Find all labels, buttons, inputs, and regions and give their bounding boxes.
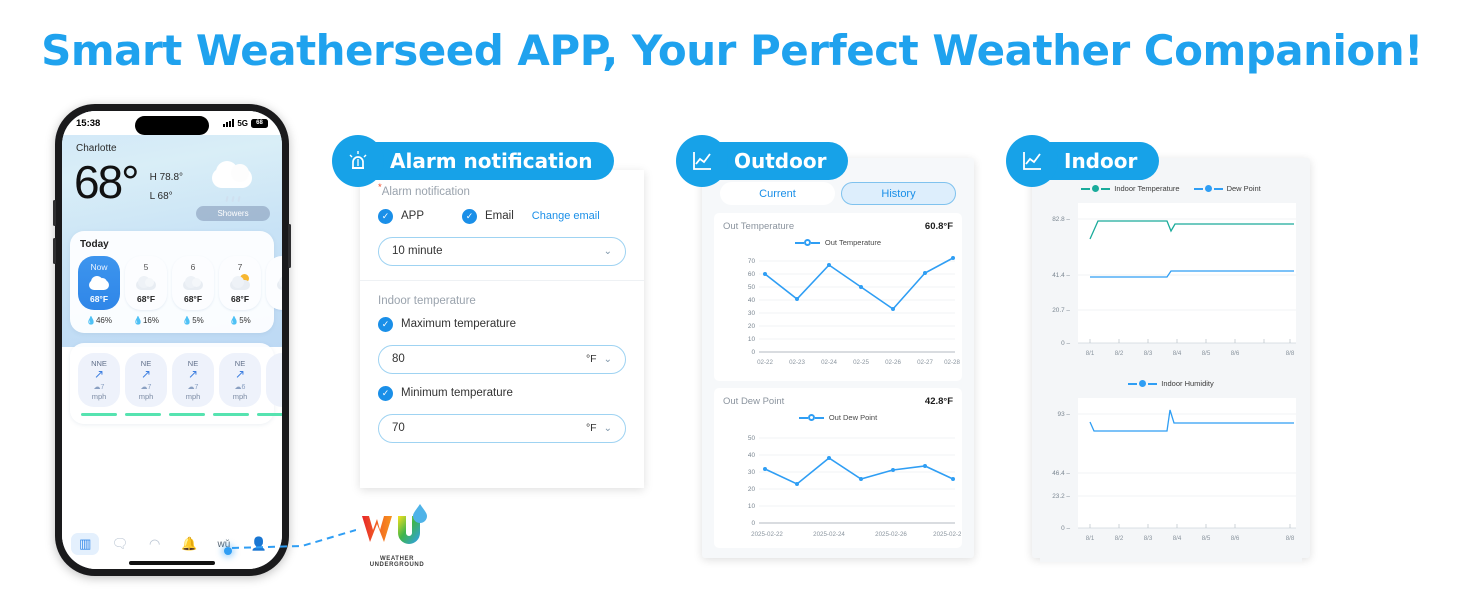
hour-temp: 68°F: [172, 294, 214, 304]
line-chart-icon: [676, 135, 728, 187]
hour-temp: 68°F: [78, 294, 120, 304]
hour-label: 7: [219, 262, 261, 272]
indoor-panel: Indoor Temperature Dew Point 82.8 – 41.4…: [1032, 158, 1310, 558]
wind-arrow-icon: ↗: [172, 368, 214, 381]
svg-text:02-25: 02-25: [853, 359, 869, 366]
interval-select[interactable]: 10 minute ⌄: [378, 237, 626, 266]
min-temp-value: 70: [392, 422, 405, 434]
svg-text:10: 10: [748, 336, 756, 343]
svg-text:2025-02-24: 2025-02-24: [813, 531, 845, 538]
out-dewpoint-title: Out Dew Point: [723, 396, 784, 407]
svg-text:02-26: 02-26: [885, 359, 901, 366]
hour-label: 5: [125, 262, 167, 272]
out-temp-title: Out Temperature: [723, 221, 794, 232]
hour-label: 6: [172, 262, 214, 272]
battery-icon: 68: [251, 119, 268, 128]
chevron-down-icon: ⌄: [604, 246, 612, 257]
out-temperature-chart: 70 60 50 40 30 20 10 0 02-22 02-23 02-24…: [723, 249, 961, 377]
chevron-down-icon[interactable]: ⌄: [604, 354, 612, 365]
tab-history[interactable]: History: [841, 182, 956, 205]
svg-text:8/6: 8/6: [1231, 535, 1240, 542]
weather-underground-logo: WEATHER UNDERGROUND: [352, 502, 442, 568]
hour-item[interactable]: 5 68°F: [125, 256, 167, 310]
cloud-icon: [134, 276, 158, 291]
min-temp-checkbox[interactable]: ✓: [378, 386, 393, 401]
outdoor-badge: Outdoor: [684, 142, 848, 180]
wind-item[interactable]: NE ↗ ☁6 mph: [219, 353, 261, 407]
sidebar-item-bell[interactable]: 🔔: [175, 536, 203, 552]
svg-text:02-23: 02-23: [789, 359, 805, 366]
signal-icon: [223, 119, 234, 127]
precip-row: 💧46% 💧16% 💧5% 💧5% 💧: [70, 310, 274, 325]
alarm-notification-panel: *Alarm notification ✓ APP ✓ Email Change…: [360, 170, 644, 488]
sidebar-item-message[interactable]: 🗨: [106, 536, 134, 552]
dynamic-island: [135, 116, 209, 135]
alarm-siren-icon: [332, 135, 384, 187]
max-temp-label: Maximum temperature: [401, 318, 516, 330]
wind-item[interactable]: NNE ↗ ☁7 mph: [78, 353, 120, 407]
max-temp-unit: °F: [586, 353, 597, 365]
alarm-badge-title: Alarm notification: [390, 149, 592, 173]
out-dewpoint-legend: Out Dew Point: [723, 413, 953, 422]
hour-label: [266, 262, 282, 272]
svg-text:0: 0: [751, 349, 755, 356]
sidebar-item-chart[interactable]: ▥: [71, 533, 99, 555]
svg-text:60: 60: [748, 271, 756, 278]
svg-text:20.7 –: 20.7 –: [1052, 307, 1070, 314]
svg-text:50: 50: [748, 284, 756, 291]
svg-text:8/1: 8/1: [1086, 535, 1095, 542]
svg-text:46.4 –: 46.4 –: [1052, 470, 1070, 477]
wu-wordmark: WEATHER UNDERGROUND: [352, 556, 442, 568]
current-conditions: 68° H 78.8° L 68° Showers: [62, 154, 282, 221]
rain-drops-icon: [196, 196, 270, 202]
svg-text:0: 0: [751, 520, 755, 527]
indoor-badge: Indoor: [1014, 142, 1159, 180]
max-temp-checkbox[interactable]: ✓: [378, 317, 393, 332]
app-label: APP: [401, 210, 424, 222]
sun-cloud-icon: [228, 276, 252, 291]
low-temp: L 68°: [150, 187, 183, 206]
indoor-temperature-card: Indoor Temperature Dew Point 82.8 – 41.4…: [1040, 184, 1302, 375]
chevron-down-icon[interactable]: ⌄: [604, 423, 612, 434]
svg-text:50: 50: [748, 435, 756, 442]
svg-text:70: 70: [748, 258, 756, 265]
wind-unit: mph: [172, 392, 214, 401]
svg-text:8/8: 8/8: [1286, 535, 1295, 542]
svg-text:8/2: 8/2: [1115, 535, 1124, 542]
rain-cloud-icon: [87, 276, 111, 291]
hour-item[interactable]: 6 68°F: [172, 256, 214, 310]
email-checkbox[interactable]: ✓: [462, 209, 477, 224]
hour-label: Now: [78, 262, 120, 272]
svg-text:10: 10: [748, 503, 756, 510]
wind-arrow-icon: ↗: [219, 368, 261, 381]
precip-item: 💧: [266, 316, 282, 325]
precip-item: 💧5%: [219, 316, 261, 325]
today-card: Today Now 68°F 5 68°F 6 68°F: [70, 231, 274, 333]
home-indicator: [129, 561, 215, 565]
svg-text:41.4 –: 41.4 –: [1052, 272, 1070, 279]
svg-text:8/4: 8/4: [1173, 350, 1182, 357]
svg-text:40: 40: [748, 452, 756, 459]
svg-text:2025-02-22: 2025-02-22: [751, 531, 783, 538]
indoor-humidity-chart: 93 – 46.4 – 23.2 – 0 – 8/1 8/2 8/3 8/4 8…: [1040, 392, 1302, 562]
today-label: Today: [70, 239, 274, 256]
hour-item[interactable]: 7 68°F: [219, 256, 261, 310]
wind-speed: ☁6: [219, 381, 261, 392]
svg-text:02-22: 02-22: [757, 359, 773, 366]
wind-row[interactable]: NNE ↗ ☁7 mph NE ↗ ☁7 mph NE ↗ ☁7 mph: [70, 353, 274, 407]
svg-text:82.8 –: 82.8 –: [1052, 216, 1070, 223]
email-label: Email: [485, 210, 514, 222]
precip-item: 💧46%: [78, 316, 120, 325]
precip-item: 💧16%: [125, 316, 167, 325]
cloud-icon: [181, 276, 205, 291]
out-temp-legend: Out Temperature: [723, 238, 953, 247]
wind-arrow-icon: ↗: [78, 368, 120, 381]
svg-text:20: 20: [748, 486, 756, 493]
max-temp-value: 80: [392, 353, 405, 365]
svg-text:93 –: 93 –: [1058, 411, 1071, 418]
min-temp-input[interactable]: 70 °F ⌄: [378, 414, 626, 443]
wind-unit: [266, 392, 282, 401]
phone-mockup: 15:38 5G 68 Charlotte 68° H 78.8° L 68° …: [55, 104, 289, 576]
svg-text:8/5: 8/5: [1202, 535, 1211, 542]
wind-item[interactable]: NE ↗ ☁7 mph: [125, 353, 167, 407]
svg-text:30: 30: [748, 469, 756, 476]
wind-item[interactable]: [266, 353, 282, 407]
min-temp-unit: °F: [586, 422, 597, 434]
svg-text:8/3: 8/3: [1144, 350, 1153, 357]
current-temperature: 68°: [74, 158, 138, 206]
wind-arrow-icon: [266, 368, 282, 381]
line-chart-icon: [1006, 135, 1058, 187]
wind-speed: [266, 381, 282, 392]
city-name: Charlotte: [62, 135, 282, 154]
indoor-humidity-card: Indoor Humidity 93 – 46.4 – 23.2 – 0 – 8…: [1040, 379, 1302, 562]
network-label: 5G: [237, 119, 248, 128]
tab-current[interactable]: Current: [720, 182, 835, 205]
alarm-badge: Alarm notification: [340, 142, 614, 180]
rain-cloud-icon: [206, 160, 260, 194]
indoor-temperature-section: Indoor temperature ✓ Maximum temperature…: [360, 281, 644, 443]
wind-unit: mph: [78, 392, 120, 401]
svg-text:8/1: 8/1: [1086, 350, 1095, 357]
hour-temp: 68°F: [125, 294, 167, 304]
wind-direction: [266, 359, 282, 368]
svg-text:2025-02-28: 2025-02-28: [933, 531, 961, 538]
svg-text:02-28: 02-28: [944, 359, 960, 366]
wind-speed: ☁7: [172, 381, 214, 392]
svg-text:30: 30: [748, 310, 756, 317]
weather-art: Showers: [196, 160, 270, 221]
connector-line: [232, 520, 356, 550]
out-dewpoint-card: Out Dew Point 42.8°F Out Dew Point 50 40…: [714, 388, 962, 548]
out-temp-value: 60.8°F: [925, 221, 953, 232]
svg-text:23.2 –: 23.2 –: [1052, 493, 1070, 500]
status-bar: 15:38 5G 68: [62, 111, 282, 135]
wind-card: NNE ↗ ☁7 mph NE ↗ ☁7 mph NE ↗ ☁7 mph: [70, 343, 274, 424]
page-title: Smart Weatherseed APP, Your Perfect Weat…: [0, 26, 1464, 75]
sidebar-item-gauge[interactable]: ◠: [141, 536, 169, 552]
alarm-top-section: *Alarm notification ✓ APP ✓ Email Change…: [360, 170, 644, 281]
svg-text:8/6: 8/6: [1231, 350, 1240, 357]
interval-value: 10 minute: [392, 245, 443, 257]
status-time: 15:38: [76, 118, 100, 129]
high-temp: H 78.8°: [150, 168, 183, 187]
wind-speed: ☁7: [78, 381, 120, 392]
phone-screen: 15:38 5G 68 Charlotte 68° H 78.8° L 68° …: [62, 111, 282, 569]
indoor-temp-legend: Indoor Temperature Dew Point: [1040, 184, 1302, 193]
svg-text:0 –: 0 –: [1061, 525, 1070, 532]
svg-text:20: 20: [748, 323, 756, 330]
condition-badge: Showers: [196, 206, 270, 221]
wind-unit: mph: [219, 392, 261, 401]
wu-highlight-dot: [224, 547, 232, 555]
indoor-temp-label: Indoor temperature: [378, 295, 626, 307]
svg-text:02-24: 02-24: [821, 359, 837, 366]
cloud-icon: [275, 276, 282, 291]
trend-bars: [70, 407, 274, 416]
outdoor-badge-title: Outdoor: [734, 149, 826, 173]
hourly-forecast-row[interactable]: Now 68°F 5 68°F 6 68°F 7 68°F: [70, 256, 274, 310]
hour-temp: 6: [266, 294, 282, 304]
svg-text:8/2: 8/2: [1115, 350, 1124, 357]
max-temp-input[interactable]: 80 °F ⌄: [378, 345, 626, 374]
alarm-section-label: *Alarm notification: [378, 182, 626, 198]
svg-text:8/5: 8/5: [1202, 350, 1211, 357]
change-email-link[interactable]: Change email: [532, 210, 600, 222]
wind-item[interactable]: NE ↗ ☁7 mph: [172, 353, 214, 407]
hour-item[interactable]: 6: [266, 256, 282, 310]
svg-text:40: 40: [748, 297, 756, 304]
out-dewpoint-value: 42.8°F: [925, 396, 953, 407]
outdoor-panel: Current History Out Temperature 60.8°F O…: [702, 158, 974, 558]
wind-arrow-icon: ↗: [125, 368, 167, 381]
wind-unit: mph: [125, 392, 167, 401]
svg-text:8/4: 8/4: [1173, 535, 1182, 542]
indoor-temperature-chart: 82.8 – 41.4 – 20.7 – 0 – 8/1 8/2 8/3 8/4…: [1040, 197, 1302, 375]
indoor-badge-title: Indoor: [1064, 149, 1137, 173]
svg-text:02-27: 02-27: [917, 359, 933, 366]
precip-item: 💧5%: [172, 316, 214, 325]
svg-text:2025-02-26: 2025-02-26: [875, 531, 907, 538]
hour-temp: 68°F: [219, 294, 261, 304]
out-temperature-card: Out Temperature 60.8°F Out Temperature 7…: [714, 213, 962, 381]
indoor-humidity-legend: Indoor Humidity: [1040, 379, 1302, 388]
out-dewpoint-chart: 50 40 30 20 10 0 2025-02-22 2025-02-24 2…: [723, 424, 961, 544]
wind-speed: ☁7: [125, 381, 167, 392]
app-checkbox[interactable]: ✓: [378, 209, 393, 224]
svg-text:8/3: 8/3: [1144, 535, 1153, 542]
wu-mark-icon: [352, 502, 442, 554]
svg-text:0 –: 0 –: [1061, 340, 1070, 347]
min-temp-label: Minimum temperature: [401, 387, 513, 399]
hour-item-now[interactable]: Now 68°F: [78, 256, 120, 310]
svg-text:8/8: 8/8: [1286, 350, 1295, 357]
